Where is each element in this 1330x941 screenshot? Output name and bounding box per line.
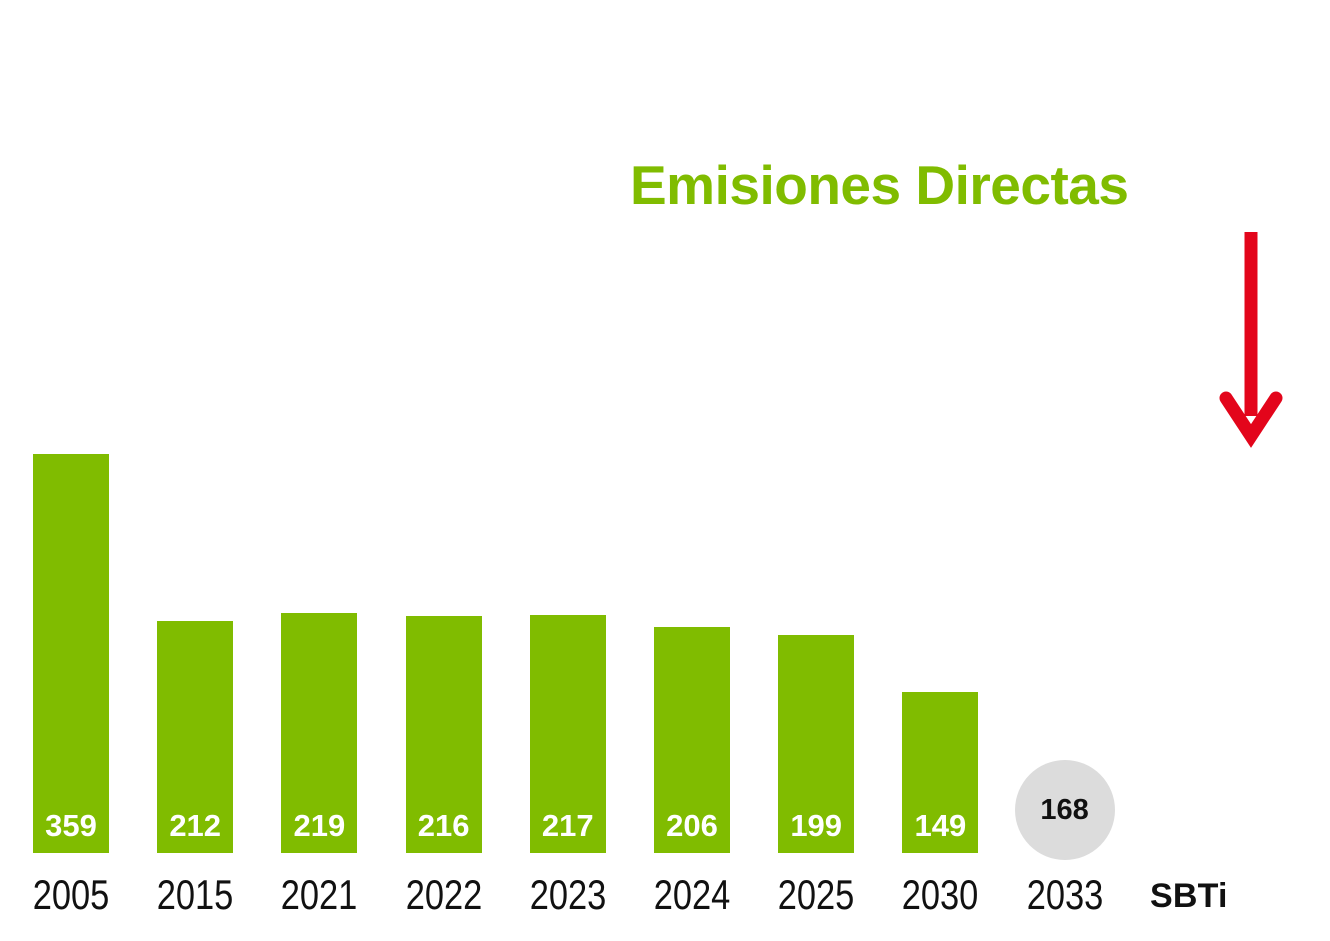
axis-label-2025: 2025: [765, 872, 867, 918]
bar-group: 206: [654, 627, 730, 853]
bar[interactable]: 149: [902, 692, 978, 853]
bar[interactable]: 212: [157, 621, 233, 853]
axis-label-2021: 2021: [269, 872, 371, 918]
axis-label-sbti: SBTi: [1127, 878, 1251, 915]
bar-group: 149: [902, 692, 978, 853]
bar-value-label: 206: [654, 810, 730, 841]
bar-value-label: 217: [530, 810, 606, 841]
chart-slide: Emisiones Directas 359200521220152192021…: [0, 0, 1330, 941]
axis-label-2023: 2023: [517, 872, 619, 918]
bar[interactable]: 199: [778, 635, 854, 853]
bar-value-label: 199: [778, 810, 854, 841]
bar-group: 199: [778, 635, 854, 853]
axis-label-2033: 2033: [1014, 872, 1116, 918]
bar[interactable]: 219: [281, 613, 357, 853]
axis-label-2015: 2015: [144, 872, 246, 918]
bar-value-label: 216: [406, 810, 482, 841]
bar-group: 359: [33, 454, 109, 853]
bar[interactable]: 217: [530, 615, 606, 853]
bar[interactable]: 359: [33, 454, 109, 853]
bar[interactable]: 206: [654, 627, 730, 853]
bar-value-label: 149: [902, 810, 978, 841]
bar-value-label: 212: [157, 810, 233, 841]
bar-group: 212: [157, 621, 233, 853]
plot-area: 3592005212201521920212162022217202320620…: [0, 0, 1330, 941]
bar[interactable]: 216: [406, 616, 482, 853]
axis-label-2030: 2030: [890, 872, 992, 918]
axis-label-2005: 2005: [20, 872, 122, 918]
bar-value-label: 359: [33, 810, 109, 841]
target-value-circle[interactable]: 168: [1015, 760, 1115, 860]
bar-group: 219: [281, 613, 357, 853]
bar-group: 217: [530, 615, 606, 853]
axis-label-2024: 2024: [641, 872, 743, 918]
bar-value-label: 219: [281, 810, 357, 841]
bar-group: 216: [406, 616, 482, 853]
axis-label-2022: 2022: [393, 872, 495, 918]
target-value-label: 168: [1040, 796, 1088, 825]
